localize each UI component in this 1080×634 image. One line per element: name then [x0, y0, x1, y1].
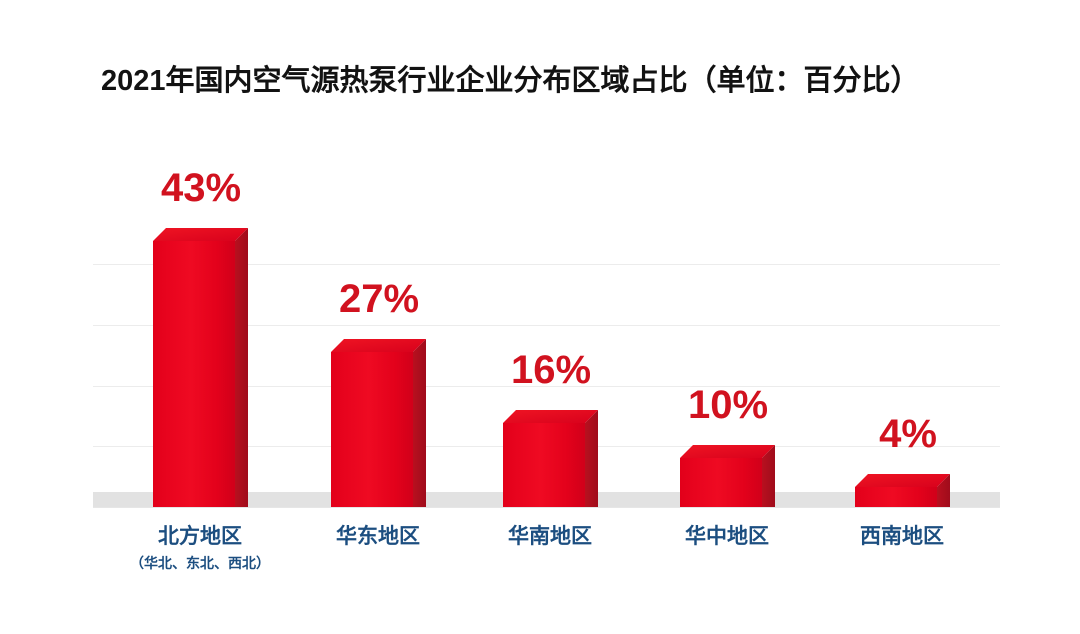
bar-value-label-4: 4%	[828, 412, 988, 457]
bar-1[interactable]	[331, 339, 426, 507]
plot-area: 43% 27% 16% 10% 4% 北方地区	[0, 0, 1080, 634]
bar-value-label-1: 27%	[299, 277, 459, 322]
bar-top-face-2	[503, 410, 598, 423]
bar-top-face-3	[680, 445, 775, 458]
bar-front-face-0	[153, 241, 235, 507]
bar-3[interactable]	[680, 445, 775, 507]
bar-value-label-0: 43%	[121, 166, 281, 211]
bar-side-face-2	[585, 410, 598, 507]
bar-top-face-1	[331, 339, 426, 352]
bar-front-face-1	[331, 352, 413, 507]
bar-0[interactable]	[153, 228, 248, 507]
bar-side-face-0	[235, 228, 248, 507]
bar-2[interactable]	[503, 410, 598, 507]
bar-top-face-0	[153, 228, 248, 241]
bar-value-label-2: 16%	[471, 348, 631, 393]
bar-4[interactable]	[855, 474, 950, 507]
bar-front-face-4	[855, 487, 937, 507]
category-label-4: 西南地区	[792, 523, 1012, 551]
bar-front-face-3	[680, 458, 762, 507]
bar-front-face-2	[503, 423, 585, 507]
bar-value-label-3: 10%	[648, 383, 808, 428]
category-sublabel-0: （华北、东北、西北）	[90, 553, 310, 573]
x-axis-line	[93, 507, 1000, 508]
bar-side-face-1	[413, 339, 426, 507]
bar-top-face-4	[855, 474, 950, 487]
chart-container: 2021年国内空气源热泵行业企业分布区域占比（单位：百分比） 43% 27% 1…	[0, 0, 1080, 634]
